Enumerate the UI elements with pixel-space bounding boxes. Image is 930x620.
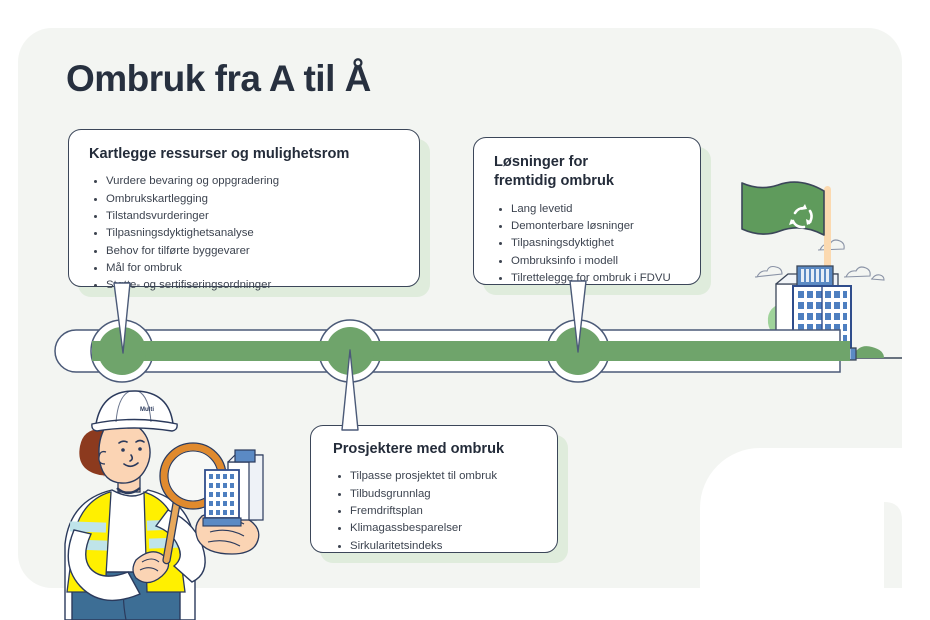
card-list: Tilpasse prosjektet til ombruk Tilbudsgr… — [333, 468, 539, 555]
list-item: Tilstandsvurderinger — [104, 208, 401, 225]
list-item: Vurdere bevaring og oppgradering — [104, 173, 401, 190]
list-item: Mål for ombruk — [104, 260, 401, 277]
list-item: Klimagassbesparelser — [348, 520, 539, 537]
card-title: Prosjektere med ombruk — [333, 440, 539, 459]
card-list: Lang levetid Demonterbare løsninger Tilp… — [494, 201, 682, 288]
list-item: Lang levetid — [509, 201, 682, 218]
callout-card-losninger[interactable]: Løsninger for fremtidig ombruk Lang leve… — [473, 137, 701, 285]
list-item: Tilpasse prosjektet til ombruk — [348, 468, 539, 485]
callout-card-kartlegge[interactable]: Kartlegge ressurser og mulighetsrom Vurd… — [68, 129, 420, 287]
list-item: Ombrukskartlegging — [104, 191, 401, 208]
list-item: Tilpasningsdyktighet — [509, 235, 682, 252]
infographic-root: Ombruk fra A til Å — [0, 0, 930, 620]
list-item: Ombruksinfo i modell — [509, 253, 682, 270]
list-item: Demonterbare løsninger — [509, 218, 682, 235]
callout-card-prosjektere[interactable]: Prosjektere med ombruk Tilpasse prosjekt… — [310, 425, 558, 553]
card-title: Løsninger for fremtidig ombruk — [494, 153, 682, 192]
list-item: Sirkularitetsindeks — [348, 538, 539, 555]
card-list: Vurdere bevaring og oppgradering Ombruks… — [89, 173, 401, 294]
list-item: Tilrettelegge for ombruk i FDVU — [509, 270, 682, 287]
card-title: Kartlegge ressurser og mulighetsrom — [89, 145, 401, 164]
page-title: Ombruk fra A til Å — [66, 58, 371, 100]
list-item: Behov for tilførte byggevarer — [104, 243, 401, 260]
page-bottom-margin — [0, 588, 930, 620]
list-item: Fremdriftsplan — [348, 503, 539, 520]
list-item: Tilpasningsdyktighetsanalyse — [104, 225, 401, 242]
list-item: Støtte- og sertifiseringsordninger — [104, 277, 401, 294]
list-item: Tilbudsgrunnlag — [348, 486, 539, 503]
